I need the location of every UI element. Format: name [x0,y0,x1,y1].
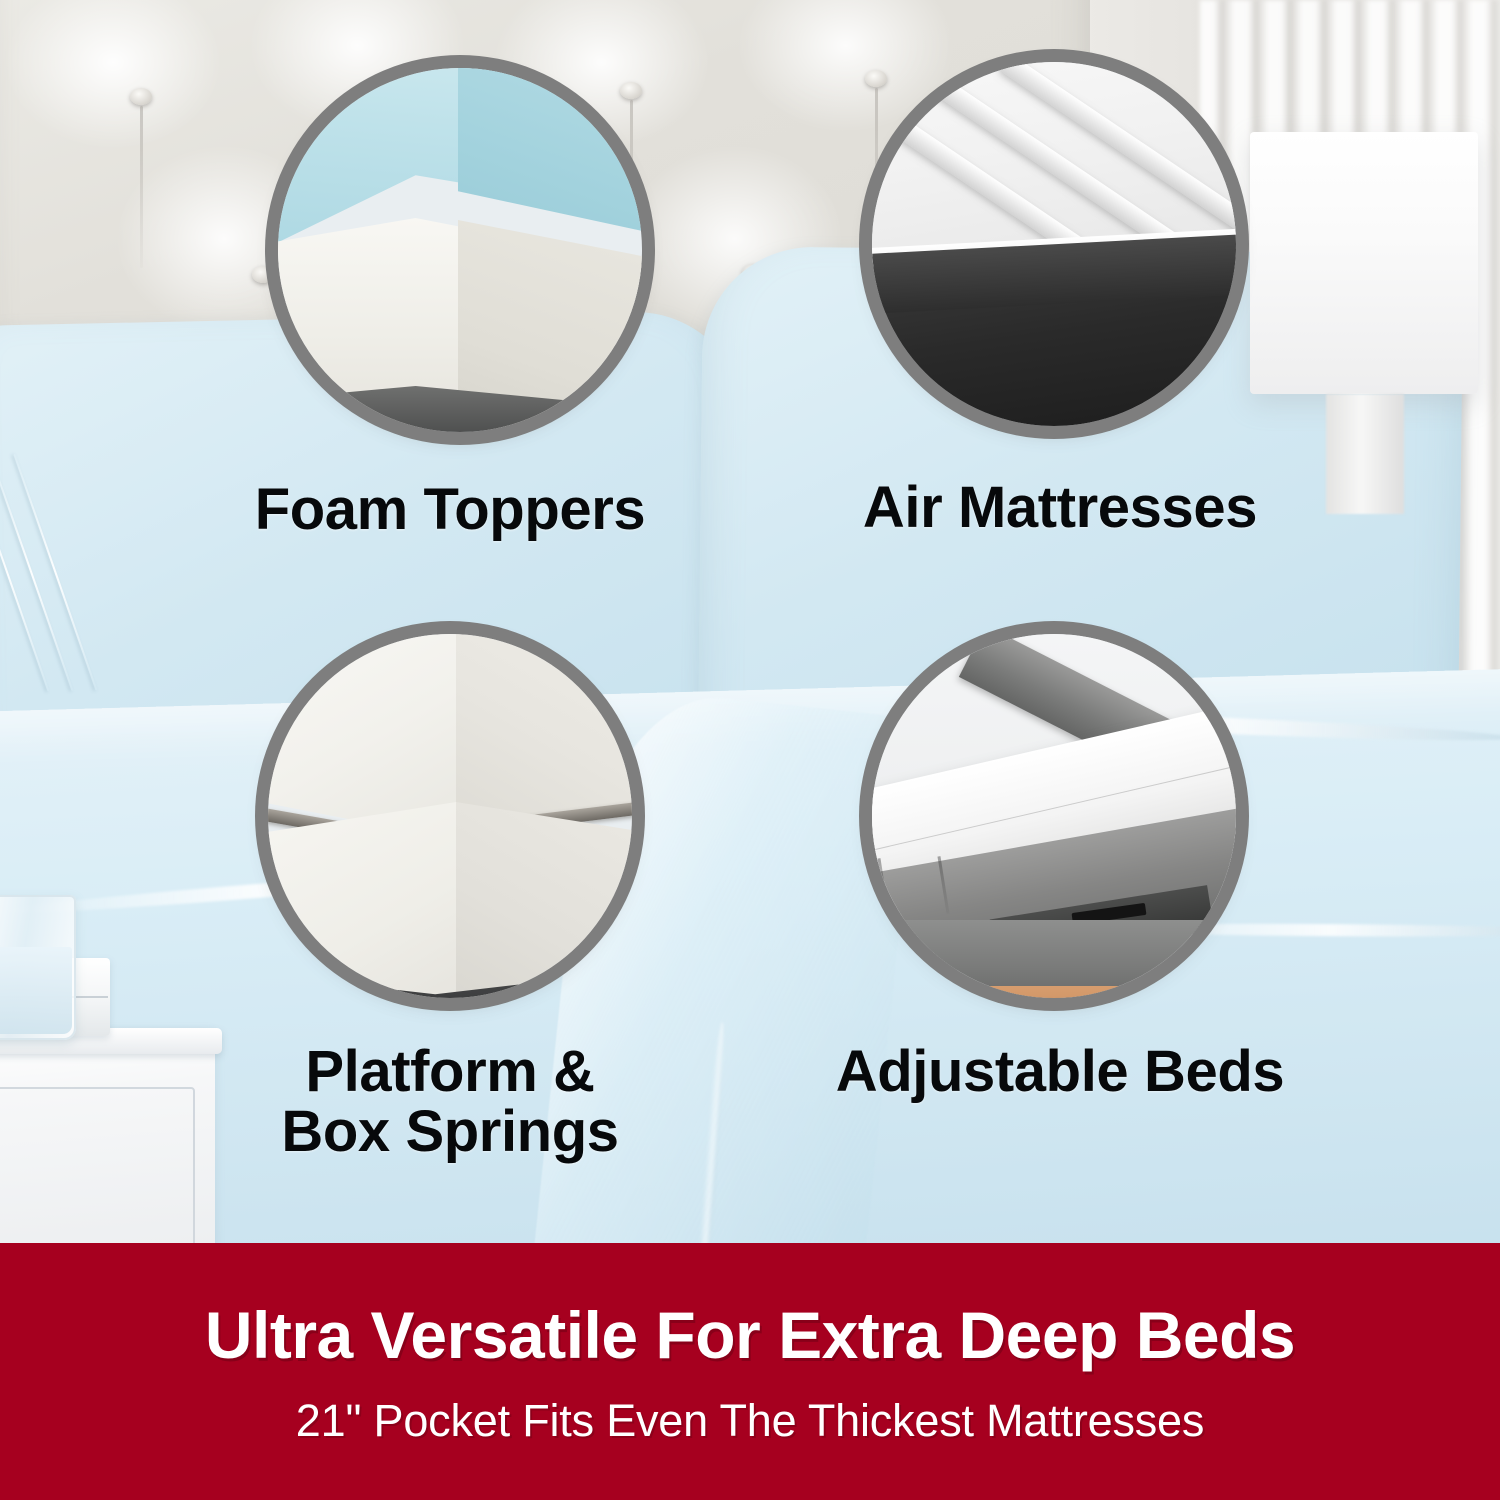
callout-label-foam-toppers: Foam Toppers [150,480,750,540]
callout-platform-box-springs [268,634,632,998]
wood-floor [872,986,1236,998]
air-mattress-photo [872,62,1236,426]
lamp-shade [1250,132,1478,394]
adjustable-bed-photo [872,634,1236,998]
callout-label-platform-box-springs: Platform & Box Springs [150,1042,750,1163]
headboard-tuft [252,266,274,283]
callout-adjustable-beds [872,634,1236,998]
callout-label-air-mattresses: Air Mattresses [760,478,1360,538]
box-spring-left-face [268,802,456,998]
water-glass [0,895,76,1040]
foam-topper-photo [278,68,642,432]
callout-label-adjustable-beds: Adjustable Beds [760,1042,1360,1102]
box-spring-photo [268,634,632,998]
callout-foam-toppers [278,68,642,432]
pillow-pleat [0,455,49,692]
air-mattress-black-base [872,245,1236,426]
promo-subline: 21" Pocket Fits Even The Thickest Mattre… [296,1395,1204,1447]
headboard-tuft [130,88,152,105]
pillow-pleat [13,454,97,691]
box-spring-right-face [456,802,632,998]
headboard-seam [140,106,143,268]
callout-air-mattresses [872,62,1236,426]
promo-headline: Ultra Versatile For Extra Deep Beds [205,1297,1295,1373]
promo-banner: Ultra Versatile For Extra Deep Beds 21" … [0,1243,1500,1500]
